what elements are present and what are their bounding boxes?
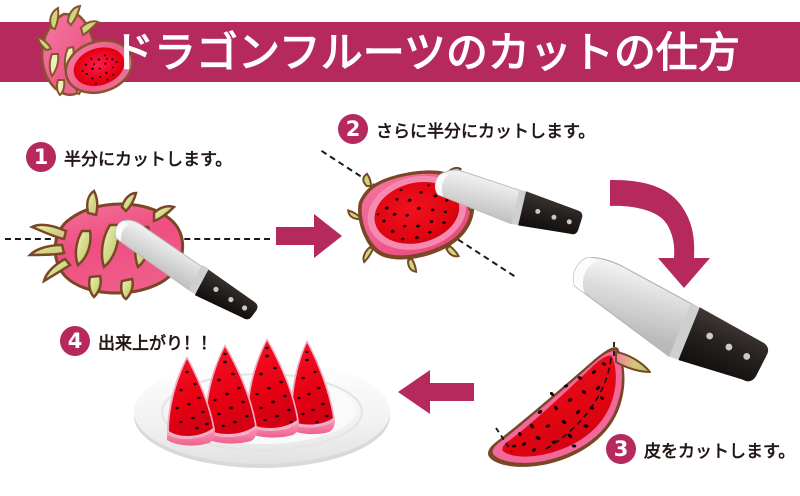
step-2-knife xyxy=(430,165,590,255)
step-1-badge: 1 xyxy=(26,142,56,172)
step-1-knife xyxy=(110,218,280,323)
step-2-text: さらに半分にカットします。 xyxy=(376,117,595,142)
page-title: ドラゴンフルーツのカットの仕方 xyxy=(112,20,800,86)
poster-canvas: ドラゴンフルーツのカットの仕方 1 半分にカットします。 xyxy=(0,0,800,496)
step-3-badge: 3 xyxy=(606,434,636,464)
step-4-dragonfruit-slices xyxy=(165,336,365,456)
step-3-text: 皮をカットします。 xyxy=(644,437,795,462)
step-1-text: 半分にカットします。 xyxy=(64,145,232,170)
step-3-label: 3 皮をカットします。 xyxy=(606,434,795,464)
arrow-step3-to-step4 xyxy=(396,368,474,416)
arrow-step1-to-step2 xyxy=(276,212,342,260)
step-2-badge: 2 xyxy=(338,114,368,144)
step-4-badge: 4 xyxy=(60,326,90,356)
step-1-label: 1 半分にカットします。 xyxy=(26,142,232,172)
step-2-label: 2 さらに半分にカットします。 xyxy=(338,114,595,144)
